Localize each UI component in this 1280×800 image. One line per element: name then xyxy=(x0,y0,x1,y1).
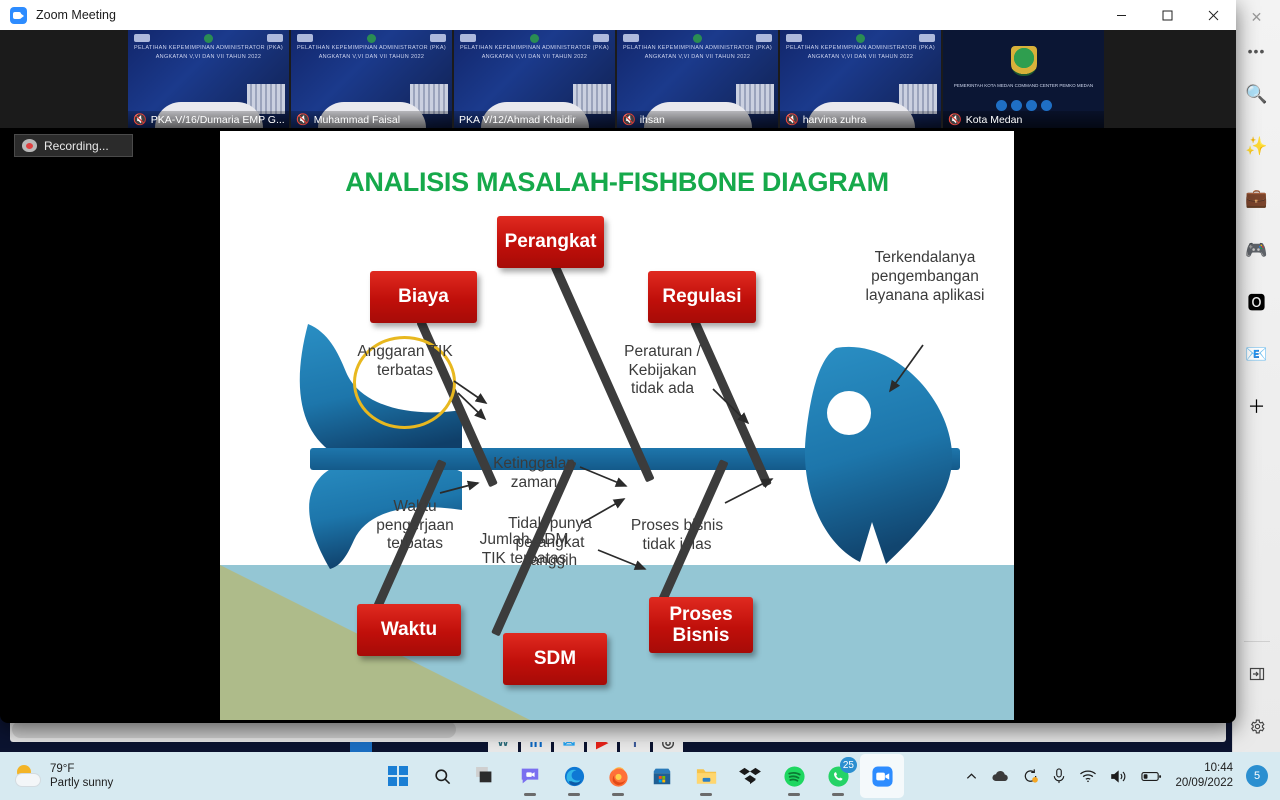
participant-name-bar: PKA V/12/Ahmad Khaidir xyxy=(454,111,615,128)
banner-text: PELATIHAN KEPEMIMPINAN ADMINISTRATOR (PK… xyxy=(128,44,289,62)
banner-text: PELATIHAN KEPEMIMPINAN ADMINISTRATOR (PK… xyxy=(454,44,615,62)
add-tool-icon[interactable]: ＋ xyxy=(1233,380,1280,432)
settings-gear-icon[interactable] xyxy=(1233,700,1280,752)
participant-name: Muhammad Faisal xyxy=(314,114,400,126)
participant-name: harvina zuhra xyxy=(803,114,867,126)
clock-date: 20/09/2022 xyxy=(1175,776,1233,791)
edge-button[interactable] xyxy=(552,754,596,798)
office-icon[interactable]: 🅾 xyxy=(1233,276,1280,328)
muted-mic-icon: 🔇 xyxy=(133,113,147,126)
weather-text: 79°F Partly sunny xyxy=(50,762,113,790)
city-crest-icon xyxy=(1011,46,1037,76)
zoom-icon xyxy=(871,765,894,788)
participant-name-bar: 🔇 PKA-V/16/Dumaria EMP G... xyxy=(128,111,289,128)
search-icon[interactable]: 🔍 xyxy=(1233,68,1280,120)
zoom-title-bar[interactable]: Zoom Meeting xyxy=(0,0,1236,30)
window-controls xyxy=(1098,0,1236,30)
taskbar-clock[interactable]: 10:44 20/09/2022 xyxy=(1175,761,1233,791)
weather-condition: Partly sunny xyxy=(50,776,113,790)
sidebar-more-icon[interactable]: ••• xyxy=(1233,34,1280,68)
banner-logos xyxy=(297,33,446,43)
firefox-icon xyxy=(607,765,630,788)
participant-tile[interactable]: PELATIHAN KEPEMIMPINAN ADMINISTRATOR (PK… xyxy=(780,30,941,128)
copilot-sparkle-icon[interactable]: ✨ xyxy=(1233,120,1280,172)
dropbox-button[interactable] xyxy=(728,754,772,798)
chevron-up-icon[interactable] xyxy=(965,770,978,783)
muted-mic-icon: 🔇 xyxy=(622,113,636,126)
banner-logos xyxy=(134,33,283,43)
desktop-root: W in ✉ ▶ f ◎ ▼ ✕ ••• 🔍 ✨ 💼 🎮 🅾 📧 ＋ xyxy=(0,0,1280,800)
edge-icon xyxy=(563,765,586,788)
banner-text: PELATIHAN KEPEMIMPINAN ADMINISTRATOR (PK… xyxy=(291,44,452,62)
cause-anggaran-tik-terbatas: Anggaran TIK terbatas xyxy=(355,343,455,380)
scrollbar-thumb[interactable] xyxy=(12,721,456,738)
cause-waktu-pengerjaan-terbatas: Waktu pengerjaan terbatas xyxy=(360,498,470,554)
weather-widget[interactable]: 79°F Partly sunny xyxy=(14,762,113,790)
games-icon[interactable]: 🎮 xyxy=(1233,224,1280,276)
zoom-meeting-window: Zoom Meeting PELATIHAN KEPEMIMPINAN ADMI… xyxy=(0,0,1236,723)
zoom-logo-icon xyxy=(10,7,27,24)
cause-jumlah-sdm-tik-terbatas: Jumlah SDM TIK terbatas xyxy=(468,531,580,568)
wifi-icon[interactable] xyxy=(1079,769,1097,783)
whatsapp-badge: 25 xyxy=(840,757,857,773)
cloud-icon[interactable] xyxy=(991,769,1009,783)
participant-name-bar: 🔇 Kota Medan xyxy=(943,111,1104,128)
microphone-icon[interactable] xyxy=(1052,768,1066,784)
minimize-button[interactable] xyxy=(1098,0,1144,30)
cause-peraturan-kebijakan-tidak-ada: Peraturan / Kebijakan tidak ada xyxy=(610,343,715,399)
clock-time: 10:44 xyxy=(1175,761,1233,776)
participant-name-bar: 🔇 ihsan xyxy=(617,111,778,128)
taskbar-apps: 25 xyxy=(376,754,904,798)
banner-logos xyxy=(786,33,935,43)
dropbox-icon xyxy=(739,766,761,786)
partly-sunny-icon xyxy=(14,764,42,788)
participant-tile-active-speaker[interactable]: PELATIHAN KEPEMIMPINAN ADMINISTRATOR (PK… xyxy=(454,30,615,128)
participant-name: Kota Medan xyxy=(966,114,1023,126)
windows-logo-icon xyxy=(388,766,408,786)
participant-tile[interactable]: PELATIHAN KEPEMIMPINAN ADMINISTRATOR (PK… xyxy=(128,30,289,128)
muted-mic-icon: 🔇 xyxy=(296,113,310,126)
sync-icon[interactable] xyxy=(1022,768,1039,784)
category-box-regulasi[interactable]: Regulasi xyxy=(648,271,756,323)
fish-eye xyxy=(827,391,871,435)
effect-statement: Terkendalanya pengembangan layanana apli… xyxy=(845,249,1005,306)
windows-taskbar: 79°F Partly sunny xyxy=(0,752,1280,800)
participant-video-strip: PELATIHAN KEPEMIMPINAN ADMINISTRATOR (PK… xyxy=(0,30,1236,128)
teams-chat-icon xyxy=(519,765,541,787)
banner-logos xyxy=(623,33,772,43)
system-tray: 10:44 20/09/2022 5 xyxy=(965,761,1280,791)
file-explorer-button[interactable] xyxy=(684,754,728,798)
microsoft-store-button[interactable] xyxy=(640,754,684,798)
notification-badge[interactable]: 5 xyxy=(1246,765,1268,787)
banner-text: PELATIHAN KEPEMIMPINAN ADMINISTRATOR (PK… xyxy=(780,44,941,62)
whatsapp-button[interactable]: 25 xyxy=(816,754,860,798)
record-dot-icon xyxy=(22,139,37,152)
shared-screen-slide: ANALISIS MASALAH-FISHBONE DIAGRAM xyxy=(220,131,1014,720)
command-center-caption: PEMERINTAH KOTA MEDAN COMMAND CENTER PEM… xyxy=(943,82,1104,89)
participant-name-bar: 🔇 Muhammad Faisal xyxy=(291,111,452,128)
category-box-perangkat[interactable]: Perangkat xyxy=(497,216,604,268)
spotify-button[interactable] xyxy=(772,754,816,798)
outlook-icon[interactable]: 📧 xyxy=(1233,328,1280,380)
participant-name-bar: 🔇 harvina zuhra xyxy=(780,111,941,128)
category-box-waktu[interactable]: Waktu xyxy=(357,604,461,656)
recording-indicator[interactable]: Recording... xyxy=(14,134,133,157)
weather-temperature: 79°F xyxy=(50,762,113,776)
collapse-panel-icon[interactable] xyxy=(1233,648,1280,700)
close-button[interactable] xyxy=(1190,0,1236,30)
maximize-button[interactable] xyxy=(1144,0,1190,30)
edge-sidebar: ✕ ••• 🔍 ✨ 💼 🎮 🅾 📧 ＋ xyxy=(1232,0,1280,760)
search-button[interactable] xyxy=(420,754,464,798)
spotify-icon xyxy=(783,765,806,788)
cause-ketinggalan-zaman: Ketinggalan zaman xyxy=(478,455,590,492)
banner-text: PELATIHAN KEPEMIMPINAN ADMINISTRATOR (PK… xyxy=(617,44,778,62)
divider xyxy=(1244,641,1270,642)
category-box-biaya[interactable]: Biaya xyxy=(370,271,477,323)
category-box-sdm[interactable]: SDM xyxy=(503,633,607,685)
folder-icon xyxy=(695,765,718,787)
start-button[interactable] xyxy=(376,754,420,798)
shopping-bag-icon[interactable]: 💼 xyxy=(1233,172,1280,224)
window-title: Zoom Meeting xyxy=(36,8,116,22)
speaker-icon[interactable] xyxy=(1110,769,1128,784)
social-dots xyxy=(996,100,1052,111)
participant-name: PKA V/12/Ahmad Khaidir xyxy=(459,114,576,126)
battery-icon[interactable] xyxy=(1141,770,1162,783)
chat-teams-button[interactable] xyxy=(508,754,552,798)
muted-mic-icon: 🔇 xyxy=(948,113,962,126)
participant-name: PKA-V/16/Dumaria EMP G... xyxy=(151,114,285,126)
store-icon xyxy=(651,765,673,787)
cause-proses-bisnis-tidak-jelas: Proses bisnis tidak jelas xyxy=(625,517,729,554)
sidebar-bottom-group xyxy=(1233,635,1280,752)
task-view-icon xyxy=(476,767,496,785)
banner-logos xyxy=(460,33,609,43)
search-icon xyxy=(433,767,452,786)
task-view-button[interactable] xyxy=(464,754,508,798)
muted-mic-icon: 🔇 xyxy=(785,113,799,126)
zoom-button[interactable] xyxy=(860,754,904,798)
fish-head xyxy=(800,336,990,581)
firefox-button[interactable] xyxy=(596,754,640,798)
participant-tile[interactable]: PELATIHAN KEPEMIMPINAN ADMINISTRATOR (PK… xyxy=(617,30,778,128)
participant-tile[interactable]: PELATIHAN KEPEMIMPINAN ADMINISTRATOR (PK… xyxy=(291,30,452,128)
participant-name: ihsan xyxy=(640,114,665,126)
close-icon[interactable]: ✕ xyxy=(1233,0,1280,34)
category-box-proses-bisnis[interactable]: Proses Bisnis xyxy=(649,597,753,653)
recording-label: Recording... xyxy=(44,139,109,153)
slide-title: ANALISIS MASALAH-FISHBONE DIAGRAM xyxy=(220,167,1014,198)
participant-tile[interactable]: PEMERINTAH KOTA MEDAN COMMAND CENTER PEM… xyxy=(943,30,1104,128)
